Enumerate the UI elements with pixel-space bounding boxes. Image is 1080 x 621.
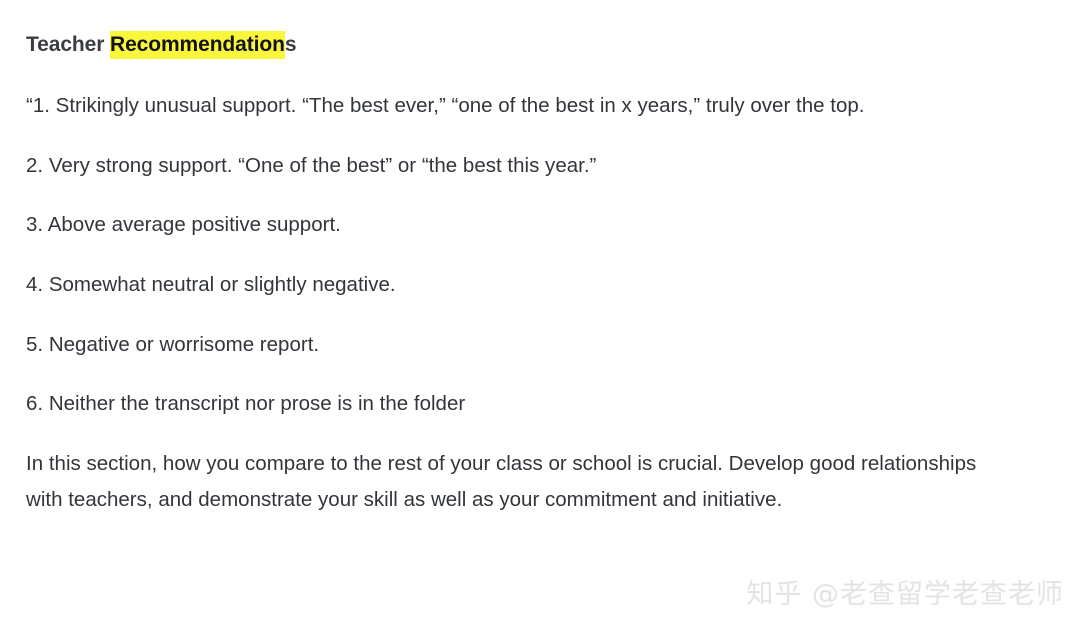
page-title: Teacher Recommendations — [26, 30, 296, 60]
list-item: 5. Negative or worrisome report. — [26, 327, 1004, 363]
recommendation-scale-list: “1. Strikingly unusual support. “The bes… — [26, 88, 1004, 517]
page-title-lead: Teacher — [26, 33, 110, 56]
list-item: 2. Very strong support. “One of the best… — [26, 148, 1004, 184]
list-item: 6. Neither the transcript nor prose is i… — [26, 386, 1004, 422]
list-item: 4. Somewhat neutral or slightly negative… — [26, 267, 1004, 303]
list-item: “1. Strikingly unusual support. “The bes… — [26, 88, 1004, 124]
document-page: Teacher Recommendations “1. Strikingly u… — [0, 0, 1080, 621]
list-item: 3. Above average positive support. — [26, 207, 1004, 243]
page-title-highlighted: Recommendation — [110, 31, 285, 59]
zhihu-watermark: 知乎 @老查留学老查老师 — [746, 572, 1064, 611]
page-title-tail: s — [285, 33, 297, 56]
closing-paragraph: In this section, how you compare to the … — [26, 446, 1004, 517]
